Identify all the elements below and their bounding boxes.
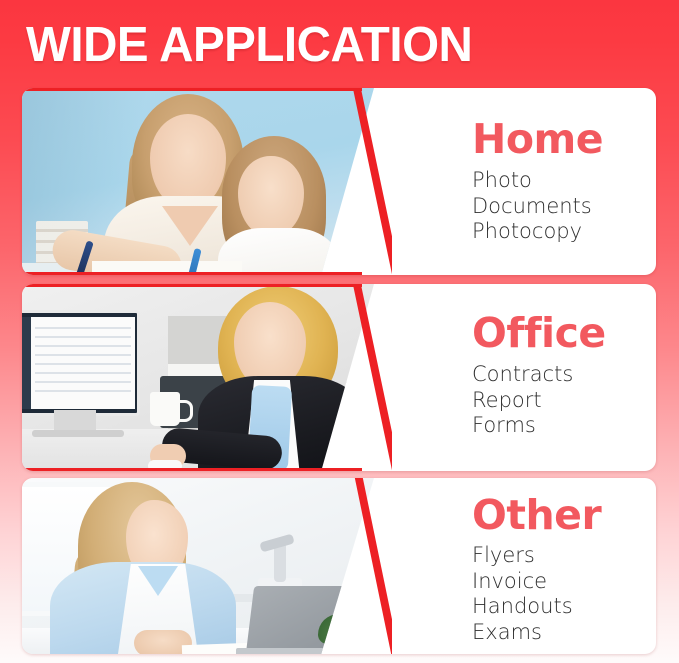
list-item: Invoice [472,569,573,595]
list-item: Contracts [472,362,573,388]
photo-girl-face [238,156,304,236]
list-item: Handouts [472,594,573,620]
page-title: WIDE APPLICATION [26,16,608,76]
card-heading-other: Other [472,493,601,537]
photo-mug [150,392,180,426]
photo-office-chair [346,380,374,471]
photo-monitor-sidebar [22,317,31,409]
card-bottom-rule [22,468,362,471]
list-item: Flyers [472,543,573,569]
application-card-home: Home Photo Documents Photocopy [22,88,656,275]
card-item-list-office: Contracts Report Forms [472,362,573,439]
application-card-other: Other Flyers Invoice Handouts Exams [22,478,656,654]
photo-mother-face [150,114,226,208]
photo-home-scene [22,88,374,275]
photo-bottle [358,564,372,616]
photo-other-scene [22,478,374,654]
card-item-list-home: Photo Documents Photocopy [472,168,592,245]
card-text-panel-home: Home Photo Documents Photocopy [400,88,656,275]
list-item: Forms [472,413,573,439]
photo-monitor-base [32,430,124,437]
card-top-rule [22,88,362,91]
wide-application-poster: WIDE APPLICATION [0,0,679,663]
card-bottom-rule [22,272,362,275]
list-item: Exams [472,620,573,646]
photo-plant [318,614,362,644]
list-item: Photocopy [472,219,592,245]
card-photo-office [22,284,374,471]
card-heading-office: Office [472,311,606,355]
photo-monitor [22,310,140,416]
photo-back-table-leg-right [342,602,348,644]
photo-office-scene [22,284,374,471]
photo-monitor-stand [54,410,96,432]
card-item-list-other: Flyers Invoice Handouts Exams [472,543,573,645]
photo-plant-pot [326,640,354,654]
card-top-rule [22,284,362,287]
card-text-panel-office: Office Contracts Report Forms [400,284,656,471]
photo-laptop [246,586,350,654]
card-photo-other [22,478,374,654]
photo-monitor-text-lines [35,327,131,397]
list-item: Photo [472,168,592,194]
card-photo-home [22,88,374,275]
photo-mug-handle [178,400,193,422]
application-card-office: Office Contracts Report Forms [22,284,656,471]
photo-laptop-base [236,648,354,654]
card-text-panel-other: Other Flyers Invoice Handouts Exams [400,478,656,654]
list-item: Documents [472,194,592,220]
card-heading-home: Home [472,117,603,161]
list-item: Report [472,388,573,414]
